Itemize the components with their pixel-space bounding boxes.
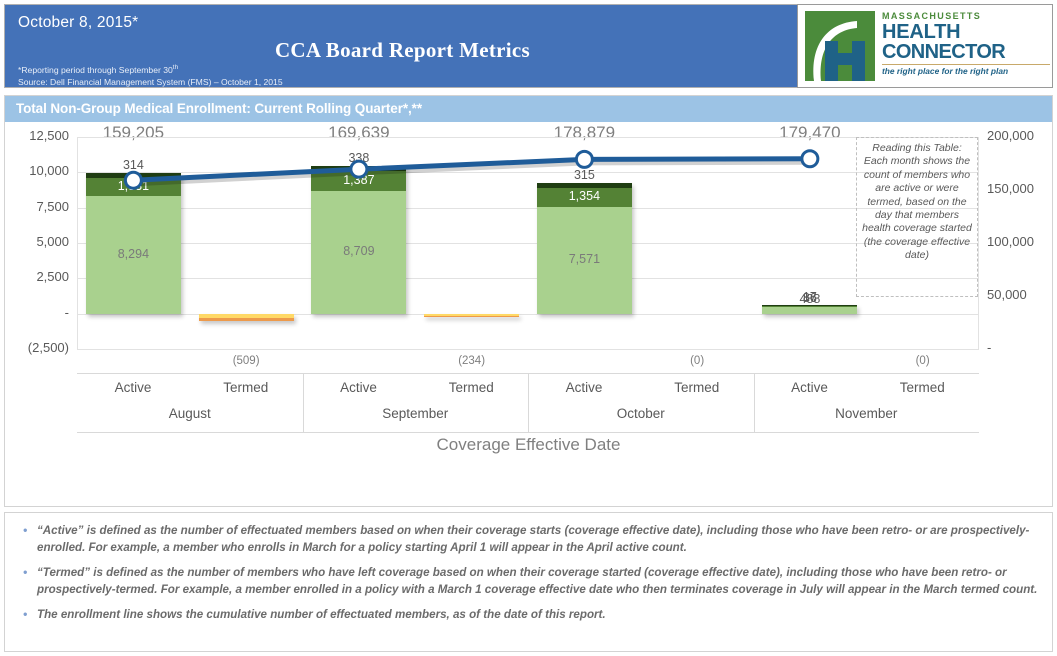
logo-health: HEALTH	[882, 22, 1050, 42]
y-tick-right: -	[987, 340, 1057, 355]
logo-tagline: the right place for the right plan	[882, 66, 1050, 76]
bar-value-label: 488	[762, 292, 857, 306]
table-row: 3151,3547,571	[537, 183, 632, 314]
category-group: ActiveTermedAugust	[77, 374, 303, 432]
report-date: October 8, 2015*	[18, 14, 138, 32]
bar-value-label: 8,294	[86, 247, 181, 261]
category-sublabel: Active	[77, 380, 189, 395]
y-tick-right: 50,000	[987, 287, 1057, 302]
header-footnotes: *Reporting period through September 30th…	[18, 62, 283, 88]
grid-line	[77, 208, 979, 209]
table-row	[199, 314, 294, 321]
source-note: Source: Dell Financial Management System…	[18, 76, 283, 88]
category-sublabel: Termed	[415, 380, 527, 395]
y-tick-left: -	[5, 305, 69, 320]
reporting-period-suffix: th	[173, 64, 178, 71]
bar-segment: 1,331	[86, 178, 181, 197]
termed-total-label: (234)	[417, 355, 527, 367]
y-tick-right: 150,000	[987, 181, 1057, 196]
category-month-label: August	[77, 406, 303, 421]
y-tick-left: (2,500)	[5, 340, 69, 355]
category-sublabel: Active	[528, 380, 640, 395]
category-separator	[303, 374, 304, 432]
bar-segment: 8,294	[86, 196, 181, 313]
category-month-label: September	[303, 406, 529, 421]
bar-value-label: 1,387	[311, 173, 406, 187]
termed-total-labels: (509)(234)(0)(0)	[77, 355, 979, 373]
logo-divider	[882, 64, 1050, 65]
y-tick-right: 100,000	[987, 234, 1057, 249]
chart-panel: Total Non-Group Medical Enrollment: Curr…	[4, 95, 1053, 507]
y-tick-right: 200,000	[987, 128, 1057, 143]
bar-segment	[424, 316, 519, 317]
termed-total-label: (0)	[868, 355, 978, 367]
category-group: ActiveTermedNovember	[754, 374, 980, 432]
reading-this-table-annotation: Reading this Table: Each month shows the…	[856, 137, 978, 297]
y-tick-left: 5,000	[5, 234, 69, 249]
bar-segment: 1,387	[311, 171, 406, 191]
grid-line	[77, 278, 979, 279]
category-month-label: November	[754, 406, 980, 421]
category-axis: ActiveTermedAugustActiveTermedSeptemberA…	[77, 373, 979, 433]
bar-segment	[199, 318, 294, 321]
grid-line	[77, 349, 979, 350]
reporting-period-note: *Reporting period through September 30	[18, 65, 173, 75]
bar-segment: 488	[762, 307, 857, 314]
category-month-label: October	[528, 406, 754, 421]
list-item: The enrollment line shows the cumulative…	[19, 607, 1038, 624]
bar-value-label: 314	[86, 158, 181, 172]
connector-h-icon	[805, 11, 875, 81]
table-row: 1786488	[762, 305, 857, 313]
table-row: 3141,3318,294	[86, 173, 181, 313]
list-item: “Termed” is defined as the number of mem…	[19, 565, 1038, 598]
grid-line	[77, 243, 979, 244]
bar-value-label: 338	[311, 151, 406, 165]
category-group: ActiveTermedOctober	[528, 374, 754, 432]
table-row: 3381,3878,709	[311, 166, 406, 313]
page-title: CCA Board Report Metrics	[5, 38, 800, 63]
bar-segment: 8,709	[311, 191, 406, 314]
plot-area: 3141,3318,2943381,3878,7093151,3547,5711…	[77, 137, 979, 349]
slide-page: October 8, 2015* CCA Board Report Metric…	[0, 0, 1057, 656]
category-separator	[754, 374, 755, 432]
logo-connector: CONNECTOR	[882, 42, 1050, 63]
definitions-notes: “Active” is defined as the number of eff…	[4, 512, 1053, 652]
bar-value-label: 7,571	[537, 252, 632, 266]
bar-value-label: 1,331	[86, 179, 181, 193]
y-tick-left: 2,500	[5, 269, 69, 284]
list-item: “Active” is defined as the number of eff…	[19, 523, 1038, 556]
category-sublabel: Termed	[866, 380, 978, 395]
bar-value-label: 1,354	[537, 189, 632, 203]
bar-value-label: 315	[537, 168, 632, 182]
logo-wordmark: MASSACHUSETTS HEALTH CONNECTOR the right…	[882, 11, 1050, 76]
bar-segment: 1,354	[537, 188, 632, 207]
grid-line	[77, 172, 979, 173]
chart-title: Total Non-Group Medical Enrollment: Curr…	[5, 96, 1052, 122]
category-sublabel: Termed	[641, 380, 753, 395]
health-connector-logo: MASSACHUSETTS HEALTH CONNECTOR the right…	[797, 4, 1053, 88]
category-sublabel: Active	[303, 380, 415, 395]
bar-value-label: 8,709	[311, 244, 406, 258]
termed-total-label: (0)	[642, 355, 752, 367]
category-separator	[528, 374, 529, 432]
category-sublabel: Termed	[190, 380, 302, 395]
y-tick-left: 7,500	[5, 199, 69, 214]
table-row	[424, 314, 519, 317]
category-group: ActiveTermedSeptember	[303, 374, 529, 432]
x-axis-title: Coverage Effective Date	[5, 435, 1052, 455]
bar-segment: 7,571	[537, 207, 632, 314]
grid-line	[77, 137, 979, 138]
y-tick-left: 10,000	[5, 163, 69, 178]
chart-area: 12,50010,0007,5005,0002,500-(2,500) 200,…	[5, 123, 1052, 507]
termed-total-label: (509)	[191, 355, 301, 367]
category-sublabel: Active	[754, 380, 866, 395]
